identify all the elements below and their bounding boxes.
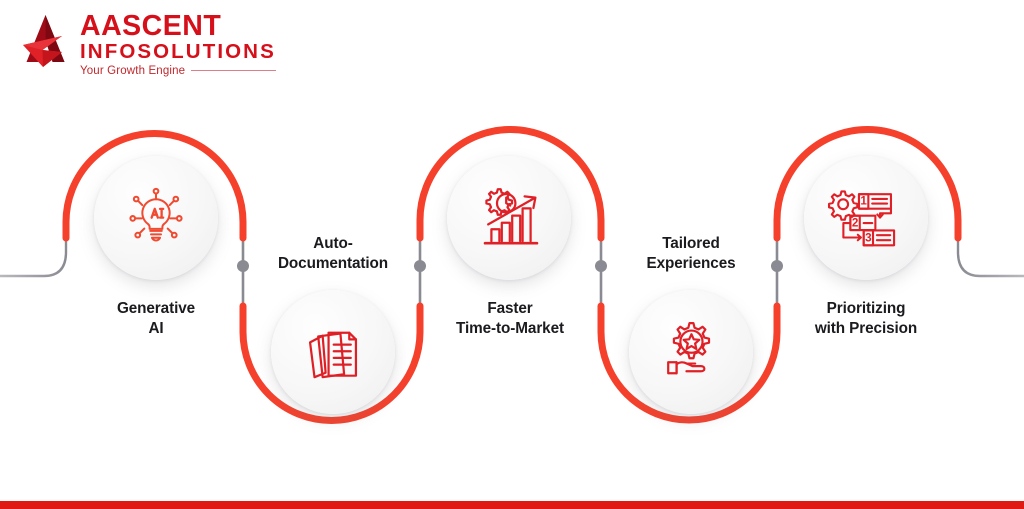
growth-chart-clock-icon bbox=[469, 178, 549, 258]
brand-logo[interactable]: AASCENT INFOSOLUTIONS Your Growth Engine bbox=[18, 12, 258, 80]
connector-right-tail bbox=[958, 238, 1024, 276]
stage-4-label: Tailored Experiences bbox=[607, 234, 775, 274]
stage-2-label: Auto- Documentation bbox=[248, 234, 418, 274]
brand-tagline-rule bbox=[191, 70, 276, 71]
numbered-priority-list-icon: 1 2 3 bbox=[827, 179, 905, 257]
ai-lightbulb-icon bbox=[117, 179, 195, 257]
svg-text:3: 3 bbox=[865, 231, 872, 244]
stage-4-circle[interactable] bbox=[629, 290, 753, 414]
svg-text:1: 1 bbox=[860, 195, 867, 208]
junction-dot-3 bbox=[595, 260, 607, 272]
svg-text:2: 2 bbox=[852, 217, 859, 230]
stage-1-circle[interactable] bbox=[94, 156, 218, 280]
hand-gear-star-icon bbox=[653, 314, 729, 390]
stage-5-circle[interactable]: 1 2 3 bbox=[804, 156, 928, 280]
stacked-documents-icon bbox=[296, 315, 370, 389]
stage-3-circle[interactable] bbox=[447, 156, 571, 280]
stage-5-label: Prioritizing with Precision bbox=[782, 299, 950, 339]
brand-tagline-row: Your Growth Engine bbox=[80, 65, 276, 77]
brand-name-line1: AASCENT bbox=[80, 12, 276, 41]
aascent-arrow-logo-icon bbox=[18, 14, 74, 72]
brand-name-line2: INFOSOLUTIONS bbox=[80, 41, 276, 63]
stage-3-label: Faster Time-to-Market bbox=[424, 299, 596, 339]
footer-accent-bar bbox=[0, 501, 1024, 509]
infographic-canvas: AASCENT INFOSOLUTIONS Your Growth Engine bbox=[0, 0, 1024, 509]
stage-1-label: Generative AI bbox=[76, 299, 236, 339]
connector-left-tail bbox=[0, 238, 66, 276]
brand-tagline: Your Growth Engine bbox=[80, 65, 185, 77]
brand-logo-text: AASCENT INFOSOLUTIONS Your Growth Engine bbox=[80, 12, 276, 77]
stage-2-circle[interactable] bbox=[271, 290, 395, 414]
